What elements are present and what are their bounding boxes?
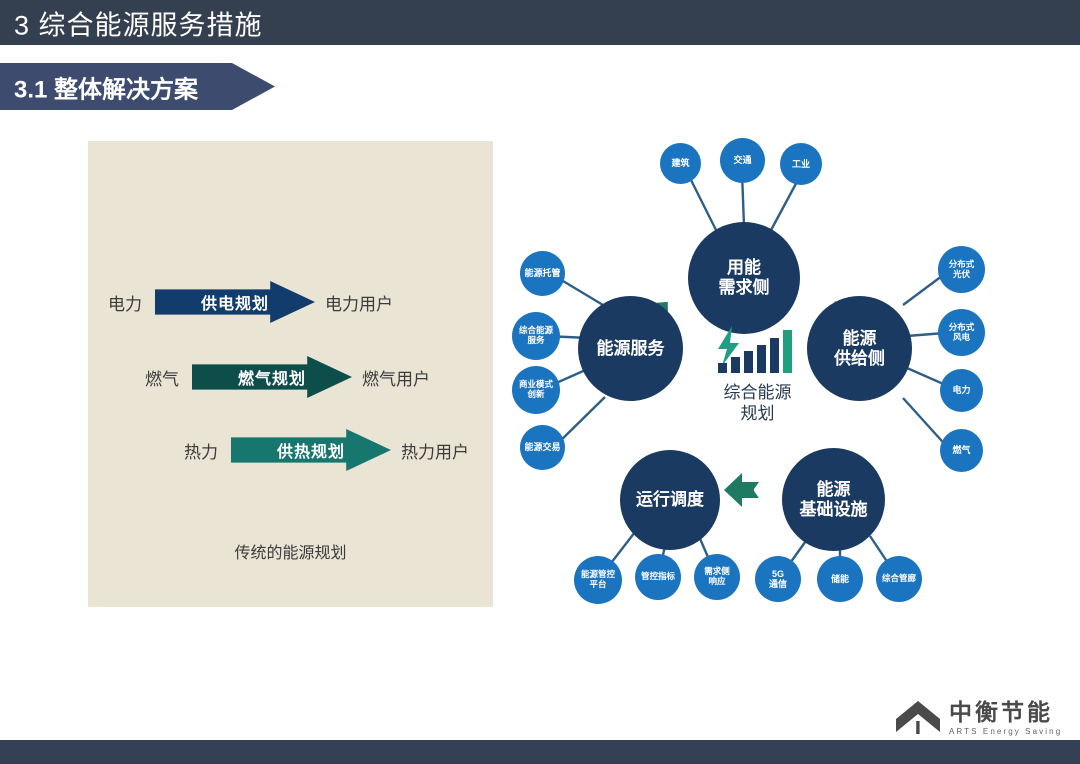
satellite-demand-response[interactable]: 需求侧 响应 (694, 554, 740, 600)
satellite-5g-communication[interactable]: 5G 通信 (755, 556, 801, 602)
satellite-energy-trading[interactable]: 能源交易 (520, 425, 565, 470)
integrated-energy-planning-diagram: 用能 需求侧 能源服务 能源 供给侧 运行调度 能源 基础设施 建筑 交通 工业… (495, 120, 1080, 630)
hub-energy-service-label: 能源服务 (597, 339, 665, 359)
flow-arrow-gas: 燃气规划 (192, 356, 352, 398)
center-label: 综合能源 规划 (724, 383, 792, 424)
footer-bar (0, 740, 1080, 764)
satellite-transport-label: 交通 (733, 155, 751, 165)
logo-text: 中衡节能 ARTS Energy Saving (949, 700, 1062, 736)
lightning-bar-chart-icon (702, 325, 814, 377)
satellite-energy-storage[interactable]: 储能 (817, 556, 863, 602)
satellite-energy-trusteeship-label: 能源托管 (524, 268, 560, 278)
hub-supply-side-line1: 能源 (843, 329, 877, 349)
flow-target-label-power: 电力用户 (325, 290, 393, 315)
flow-source-label-heat: 热力 (184, 438, 218, 463)
flow-row-power: 电力 供电规划 电力用户 (108, 281, 393, 323)
satellite-5g-communication-line2: 通信 (769, 579, 787, 589)
hub-operation-dispatch-label: 运行调度 (636, 490, 704, 510)
satellite-industry[interactable]: 工业 (780, 143, 822, 185)
logo-name-en: ARTS Energy Saving (949, 727, 1062, 736)
satellite-electricity[interactable]: 电力 (940, 369, 983, 412)
satellite-energy-control-platform-line2: 平台 (589, 580, 606, 590)
traditional-planning-panel: 电力 供电规划 电力用户 燃气 燃气规划 燃气用户 热力 供热规划 热力用户 传… (88, 141, 493, 607)
hub-supply-side-line2: 供给侧 (834, 349, 885, 369)
satellite-integrated-energy-service-line2: 服务 (527, 336, 544, 346)
satellite-energy-trading-label: 能源交易 (524, 442, 560, 452)
hub-energy-infrastructure-line1: 能源 (817, 480, 851, 500)
flow-target-label-heat: 热力用户 (401, 438, 469, 463)
satellite-5g-communication-line1: 5G (772, 569, 784, 579)
flow-arrow-heat: 供热规划 (231, 429, 391, 471)
company-logo: 中衡节能 ARTS Energy Saving (895, 692, 1065, 744)
center-label-line2: 规划 (724, 404, 792, 425)
section-banner-label: 3.1 整体解决方案 (14, 69, 198, 104)
hub-energy-service[interactable]: 能源服务 (578, 296, 683, 401)
satellite-control-indicators-label: 管控指标 (641, 572, 675, 582)
satellite-integrated-energy-service[interactable]: 综合能源 服务 (512, 312, 560, 360)
logo-name-cn: 中衡节能 (949, 700, 1062, 724)
satellite-energy-trusteeship[interactable]: 能源托管 (520, 251, 565, 296)
flow-target-label-gas: 燃气用户 (362, 365, 430, 390)
satellite-distributed-wind-line2: 风电 (953, 333, 970, 343)
satellite-energy-storage-label: 储能 (831, 574, 849, 584)
center-label-line1: 综合能源 (724, 383, 792, 404)
hub-demand-side[interactable]: 用能 需求侧 (688, 222, 800, 334)
section-banner: 3.1 整体解决方案 (0, 63, 275, 110)
flow-source-label-gas: 燃气 (145, 365, 179, 390)
satellite-distributed-pv-line2: 光伏 (953, 270, 970, 280)
chapter-title: 3 综合能源服务措施 (14, 3, 263, 42)
satellite-distributed-wind[interactable]: 分布式 风电 (938, 309, 985, 356)
satellite-building-label: 建筑 (671, 158, 689, 168)
satellite-gas-label: 燃气 (952, 445, 970, 455)
satellite-control-indicators[interactable]: 管控指标 (635, 554, 681, 600)
hub-demand-side-line1: 用能 (727, 258, 761, 278)
satellite-utility-tunnel[interactable]: 综合管廊 (876, 556, 922, 602)
satellite-business-model-innovation-line2: 创新 (527, 390, 544, 400)
satellite-distributed-pv[interactable]: 分布式 光伏 (938, 246, 985, 293)
roof-chevron-icon (895, 699, 941, 737)
chapter-header-bar: 3 综合能源服务措施 (0, 0, 1080, 45)
satellite-energy-control-platform[interactable]: 能源管控 平台 (574, 556, 622, 604)
flow-arrow-power: 供电规划 (155, 281, 315, 323)
satellite-demand-response-line2: 响应 (708, 577, 725, 587)
satellite-industry-label: 工业 (792, 159, 810, 169)
satellite-utility-tunnel-label: 综合管廊 (882, 574, 916, 584)
hub-operation-dispatch[interactable]: 运行调度 (620, 450, 720, 550)
hub-energy-infrastructure-line2: 基础设施 (800, 500, 868, 520)
satellite-business-model-innovation[interactable]: 商业模式 创新 (512, 366, 560, 414)
center-concept: 综合能源 规划 (685, 325, 830, 450)
flow-source-label-power: 电力 (108, 290, 142, 315)
satellite-building[interactable]: 建筑 (660, 143, 701, 184)
panel-caption: 传统的能源规划 (88, 539, 493, 563)
satellite-transport[interactable]: 交通 (720, 138, 765, 183)
satellite-electricity-label: 电力 (952, 385, 970, 395)
flow-row-gas: 燃气 燃气规划 燃气用户 (145, 356, 430, 398)
hub-energy-infrastructure[interactable]: 能源 基础设施 (782, 448, 885, 551)
hub-demand-side-line2: 需求侧 (719, 278, 770, 298)
flow-row-heat: 热力 供热规划 热力用户 (184, 429, 469, 471)
satellite-gas[interactable]: 燃气 (940, 429, 983, 472)
